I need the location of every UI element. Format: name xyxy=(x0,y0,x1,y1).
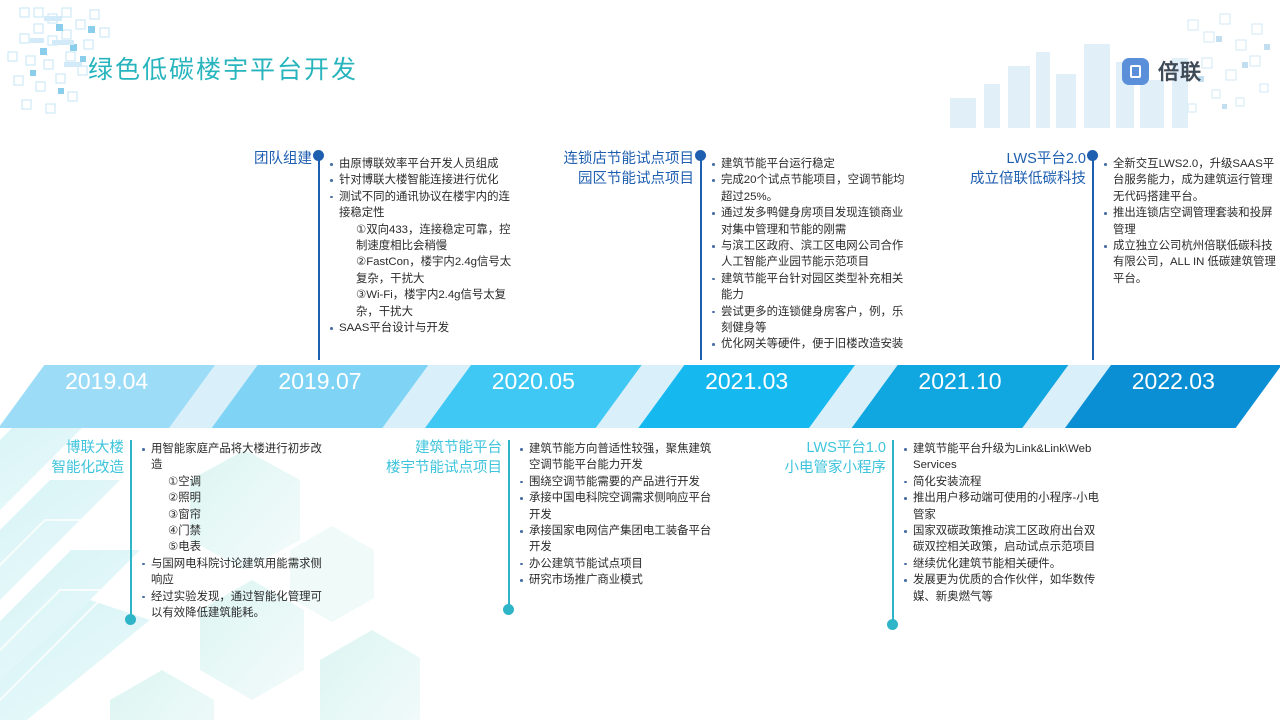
node-title: LWS平台2.0成立倍联低碳科技 xyxy=(970,149,1086,189)
bullet-item: 建筑节能平台运行稳定 xyxy=(710,156,910,172)
bullet-sub-item: ③Wi-Fi，楼宇内2.4g信号太复杂，干扰大 xyxy=(328,287,518,320)
node-connector-line xyxy=(130,440,132,620)
milestone-node-bottom-3[interactable]: LWS平台1.0小电管家小程序建筑节能平台升级为Link&Link\Web Se… xyxy=(0,0,1280,720)
bullet-sub-item: ②照明 xyxy=(140,490,325,506)
bullet-item: SAAS平台设计与开发 xyxy=(328,320,518,336)
node-marker-dot xyxy=(125,614,136,625)
bullet-sub-item: ①双向433，连接稳定可靠，控制速度相比会稍慢 xyxy=(328,222,518,255)
bullet-items: 用智能家庭产品将大楼进行初步改造①空调②照明③窗帘④门禁⑤电表与国网电科院讨论建… xyxy=(140,441,325,621)
milestone-node-bottom-1[interactable]: 博联大楼智能化改造用智能家庭产品将大楼进行初步改造①空调②照明③窗帘④门禁⑤电表… xyxy=(0,0,1280,720)
bullet-item: 成立独立公司杭州倍联低碳科技有限公司，ALL IN 低碳建筑管理平台。 xyxy=(1102,238,1280,287)
bullet-item: 简化安装流程 xyxy=(902,474,1102,490)
slide-root: 绿色低碳楼宇平台开发 倍联 2019.042019.072020.052021.… xyxy=(0,0,1280,720)
timeline-date-2021-10: 2021.10 xyxy=(915,367,1005,395)
timeline-date-2019-07: 2019.07 xyxy=(275,367,365,395)
bullet-item: 建筑节能平台针对园区类型补充相关能力 xyxy=(710,271,910,304)
node-bullet-list: 用智能家庭产品将大楼进行初步改造①空调②照明③窗帘④门禁⑤电表与国网电科院讨论建… xyxy=(140,441,325,621)
bullet-sub-item: ⑤电表 xyxy=(140,539,325,555)
node-title: 团队组建 xyxy=(254,149,312,169)
bullet-items: 由原博联效率平台开发人员组成针对博联大楼智能连接进行优化测试不同的通讯协议在楼宇… xyxy=(328,156,518,336)
bullet-item: 测试不同的通讯协议在楼宇内的连接稳定性 xyxy=(328,189,518,222)
node-bullet-list: 建筑节能平台运行稳定完成20个试点节能项目，空调节能均超过25%。通过发多鸭健身… xyxy=(710,156,910,353)
node-title: LWS平台1.0小电管家小程序 xyxy=(785,438,887,478)
node-marker-dot xyxy=(887,619,898,630)
node-title-line: 成立倍联低碳科技 xyxy=(970,169,1086,189)
bullet-item: 推出用户移动端可使用的小程序-小电管家 xyxy=(902,490,1102,523)
timeline-band: 2019.042019.072020.052021.032021.102022.… xyxy=(0,365,1280,428)
bullet-item: 建筑节能方向普适性较强，聚焦建筑空调节能平台能力开发 xyxy=(518,441,718,474)
milestone-node-top-2[interactable]: 连锁店节能试点项目园区节能试点项目建筑节能平台运行稳定完成20个试点节能项目，空… xyxy=(0,0,1280,720)
timeline-date-2022-03: 2022.03 xyxy=(1128,367,1218,395)
bullet-sub-item: ③窗帘 xyxy=(140,507,325,523)
milestone-node-top-1[interactable]: 团队组建由原博联效率平台开发人员组成针对博联大楼智能连接进行优化测试不同的通讯协… xyxy=(0,0,1280,720)
bullet-item: 继续优化建筑节能相关硬件。 xyxy=(902,556,1102,572)
brand-logo: 倍联 xyxy=(1122,56,1202,86)
brand-name: 倍联 xyxy=(1158,56,1202,86)
node-connector-line xyxy=(892,440,894,625)
node-title: 连锁店节能试点项目园区节能试点项目 xyxy=(564,149,695,189)
node-title-line: LWS平台1.0 xyxy=(785,438,887,458)
bullet-item: 承接中国电科院空调需求侧响应平台开发 xyxy=(518,490,718,523)
bullet-item: 办公建筑节能试点项目 xyxy=(518,556,718,572)
timeline-date-labels: 2019.042019.072020.052021.032021.102022.… xyxy=(0,365,1280,428)
bullet-item: 经过实验发现，通过智能化管理可以有效降低建筑能耗。 xyxy=(140,589,325,622)
node-title-line: 园区节能试点项目 xyxy=(564,169,695,189)
bullet-item: 优化网关等硬件，便于旧楼改造安装 xyxy=(710,336,910,352)
bullet-sub-item: ①空调 xyxy=(140,474,325,490)
square-logo-icon xyxy=(1122,58,1149,85)
city-skyline-decoration xyxy=(920,0,1280,135)
bullet-sub-list: ①双向433，连接稳定可靠，控制速度相比会稍慢②FastCon，楼宇内2.4g信… xyxy=(328,222,518,320)
node-title-line: 博联大楼 xyxy=(52,438,125,458)
node-bullet-list: 建筑节能平台升级为Link&Link\Web Services简化安装流程推出用… xyxy=(902,441,1102,605)
milestone-node-bottom-2[interactable]: 建筑节能平台楼宇节能试点项目建筑节能方向普适性较强，聚焦建筑空调节能平台能力开发… xyxy=(0,0,1280,720)
node-title-line: 楼宇节能试点项目 xyxy=(386,458,502,478)
node-title-line: 团队组建 xyxy=(254,149,312,169)
bullet-item: 尝试更多的连锁健身房客户，例，乐刻健身等 xyxy=(710,304,910,337)
node-connector-line xyxy=(700,155,702,360)
node-marker-dot xyxy=(1087,150,1098,161)
bullet-item: 与国网电科院讨论建筑用能需求侧响应 xyxy=(140,556,325,589)
bullet-item: 国家双碳政策推动滨工区政府出台双碳双控相关政策，启动试点示范项目 xyxy=(902,523,1102,556)
bullet-item: 针对博联大楼智能连接进行优化 xyxy=(328,172,518,188)
node-bullet-list: 全新交互LWS2.0，升级SAAS平台服务能力，成为建筑运行管理无代码搭建平台。… xyxy=(1102,156,1280,287)
page-title: 绿色低碳楼宇平台开发 xyxy=(88,50,358,86)
hexagon-decoration xyxy=(0,420,420,720)
bullet-item: 围绕空调节能需要的产品进行开发 xyxy=(518,474,718,490)
milestone-node-top-3[interactable]: LWS平台2.0成立倍联低碳科技全新交互LWS2.0，升级SAAS平台服务能力，… xyxy=(0,0,1280,720)
node-title: 博联大楼智能化改造 xyxy=(52,438,125,478)
timeline-date-2019-04: 2019.04 xyxy=(62,367,152,395)
node-title-line: LWS平台2.0 xyxy=(970,149,1086,169)
node-bullet-list: 由原博联效率平台开发人员组成针对博联大楼智能连接进行优化测试不同的通讯协议在楼宇… xyxy=(328,156,518,336)
node-title-line: 小电管家小程序 xyxy=(785,458,887,478)
node-title-line: 建筑节能平台 xyxy=(386,438,502,458)
bullet-item: 研究市场推广商业模式 xyxy=(518,572,718,588)
bullet-items: 全新交互LWS2.0，升级SAAS平台服务能力，成为建筑运行管理无代码搭建平台。… xyxy=(1102,156,1280,287)
bullet-sub-item: ②FastCon，楼宇内2.4g信号太复杂，干扰大 xyxy=(328,254,518,287)
bullet-item: 通过发多鸭健身房项目发现连锁商业对集中管理和节能的刚需 xyxy=(710,205,910,238)
bullet-item: 建筑节能平台升级为Link&Link\Web Services xyxy=(902,441,1102,474)
node-connector-line xyxy=(318,155,320,360)
node-connector-line xyxy=(508,440,510,610)
bullet-item: 推出连锁店空调管理套装和投屏管理 xyxy=(1102,205,1280,238)
bullet-item: 由原博联效率平台开发人员组成 xyxy=(328,156,518,172)
bullet-sub-item: ④门禁 xyxy=(140,523,325,539)
bullet-items: 建筑节能平台升级为Link&Link\Web Services简化安装流程推出用… xyxy=(902,441,1102,605)
bullet-sub-list: ①空调②照明③窗帘④门禁⑤电表 xyxy=(140,474,325,556)
bullet-items: 建筑节能方向普适性较强，聚焦建筑空调节能平台能力开发围绕空调节能需要的产品进行开… xyxy=(518,441,718,589)
node-marker-dot xyxy=(695,150,706,161)
bullet-item: 承接国家电网信产集团电工装备平台开发 xyxy=(518,523,718,556)
node-marker-dot xyxy=(313,150,324,161)
bullet-items: 建筑节能平台运行稳定完成20个试点节能项目，空调节能均超过25%。通过发多鸭健身… xyxy=(710,156,910,353)
node-bullet-list: 建筑节能方向普适性较强，聚焦建筑空调节能平台能力开发围绕空调节能需要的产品进行开… xyxy=(518,441,718,589)
node-title: 建筑节能平台楼宇节能试点项目 xyxy=(386,438,502,478)
bullet-item: 发展更为优质的合作伙伴，如华数传媒、新奥燃气等 xyxy=(902,572,1102,605)
node-title-line: 连锁店节能试点项目 xyxy=(564,149,695,169)
node-marker-dot xyxy=(503,604,514,615)
bullet-item: 与滨工区政府、滨工区电网公司合作人工智能产业园节能示范项目 xyxy=(710,238,910,271)
timeline-date-2021-03: 2021.03 xyxy=(702,367,792,395)
timeline-date-2020-05: 2020.05 xyxy=(488,367,578,395)
bullet-item: 用智能家庭产品将大楼进行初步改造 xyxy=(140,441,325,474)
bullet-item: 全新交互LWS2.0，升级SAAS平台服务能力，成为建筑运行管理无代码搭建平台。 xyxy=(1102,156,1280,205)
node-connector-line xyxy=(1092,155,1094,360)
bullet-item: 完成20个试点节能项目，空调节能均超过25%。 xyxy=(710,172,910,205)
node-title-line: 智能化改造 xyxy=(52,458,125,478)
